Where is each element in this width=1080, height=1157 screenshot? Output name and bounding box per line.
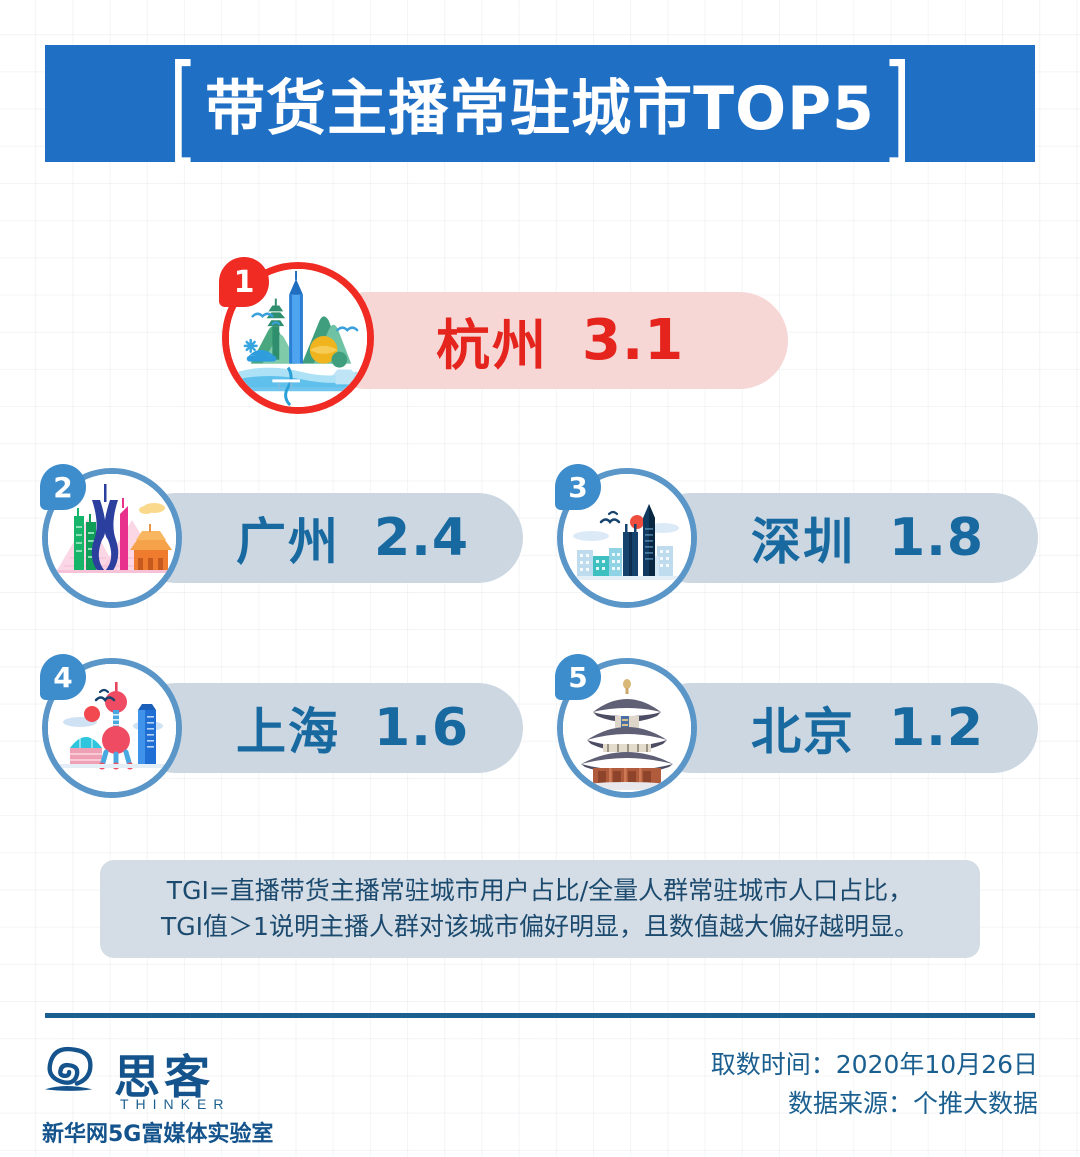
data-source-line: 数据来源：个推大数据 bbox=[711, 1085, 1038, 1124]
rank-pill-1: 杭州 3.1 bbox=[318, 292, 788, 389]
city-name-4: 上海 bbox=[236, 692, 340, 764]
logo-wordmark: 思客 bbox=[114, 1054, 214, 1100]
bracket-right-icon: ] bbox=[889, 57, 911, 147]
thinker-swirl-logo-icon bbox=[42, 1044, 104, 1100]
data-date-line: 取数时间：2020年10月26日 bbox=[711, 1046, 1038, 1085]
infographic-page: [ 带货主播常驻城市TOP5 ] 杭州 3.1 bbox=[0, 0, 1080, 1157]
page-title: 带货主播常驻城市TOP5 bbox=[205, 60, 875, 147]
note-line-1: TGI=直播带货主播常驻城市用户占比/全量人群常驻城市人口占比， bbox=[167, 876, 913, 906]
rank-pill-4: 上海 1.6 bbox=[131, 683, 523, 773]
tgi-value-2: 2.4 bbox=[374, 508, 469, 568]
city-icon-circle-3: 3 bbox=[557, 468, 697, 608]
footer-divider bbox=[45, 1013, 1035, 1018]
city-icon-circle-5: 5 bbox=[557, 658, 697, 798]
city-icon-circle-1: 1 bbox=[222, 262, 374, 414]
title-banner: [ 带货主播常驻城市TOP5 ] bbox=[45, 45, 1035, 162]
rank-badge-5: 5 bbox=[555, 654, 601, 700]
city-name-2: 广州 bbox=[236, 502, 340, 574]
rank-badge-2: 2 bbox=[40, 464, 86, 510]
city-name-3: 深圳 bbox=[751, 502, 855, 574]
city-icon-circle-2: 2 bbox=[42, 468, 182, 608]
footer-meta: 取数时间：2020年10月26日 数据来源：个推大数据 bbox=[711, 1046, 1038, 1124]
rank-badge-1: 1 bbox=[219, 257, 269, 307]
city-name-1: 杭州 bbox=[436, 301, 548, 380]
rank-pill-5: 北京 1.2 bbox=[646, 683, 1038, 773]
city-icon-circle-4: 4 bbox=[42, 658, 182, 798]
tgi-value-3: 1.8 bbox=[889, 508, 984, 568]
rank-pill-3: 深圳 1.8 bbox=[646, 493, 1038, 583]
brand-logo-block: 思客 THINKER 新华网5G富媒体实验室 bbox=[42, 1038, 372, 1148]
tgi-value-4: 1.6 bbox=[374, 698, 469, 758]
rank-badge-4: 4 bbox=[40, 654, 86, 700]
note-line-2: TGI值＞1说明主播人群对该城市偏好明显，且数值越大偏好越明显。 bbox=[161, 912, 919, 942]
rank-badge-3: 3 bbox=[555, 464, 601, 510]
rank-pill-2: 广州 2.4 bbox=[131, 493, 523, 583]
bracket-left-icon: [ bbox=[170, 57, 192, 147]
logo-tagline: 新华网5G富媒体实验室 bbox=[42, 1116, 372, 1148]
tgi-value-5: 1.2 bbox=[889, 698, 984, 758]
city-name-5: 北京 bbox=[751, 692, 855, 764]
tgi-value-1: 3.1 bbox=[582, 308, 684, 373]
logo-english-name: THINKER bbox=[120, 1096, 372, 1112]
logo-row: 思客 bbox=[42, 1038, 372, 1100]
tgi-definition-note: TGI=直播带货主播常驻城市用户占比/全量人群常驻城市人口占比， TGI值＞1说… bbox=[100, 860, 980, 958]
title-inner: [ 带货主播常驻城市TOP5 ] bbox=[170, 60, 911, 147]
